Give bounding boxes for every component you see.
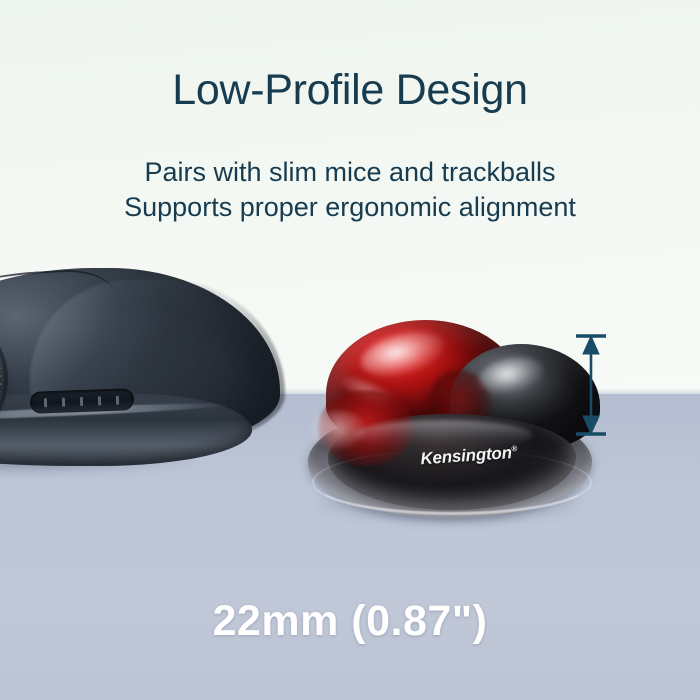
subtitle-line-2: Supports proper ergonomic alignment <box>0 190 700 225</box>
page-title: Low-Profile Design <box>0 68 700 113</box>
mouse-status-led-strip <box>30 388 135 414</box>
slim-trackball-mouse <box>0 262 300 487</box>
registered-trademark-symbol: ® <box>511 444 517 453</box>
gel-wrist-rest: Kensington® <box>300 318 600 530</box>
product-marketing-image: Low-Profile Design Pairs with slim mice … <box>0 0 700 700</box>
height-dimension-arrow-icon <box>560 325 622 445</box>
subtitle-line-1: Pairs with slim mice and trackballs <box>0 155 700 190</box>
subtitle-block: Pairs with slim mice and trackballs Supp… <box>0 155 700 224</box>
dimension-caption: 22mm (0.87") <box>0 597 700 646</box>
